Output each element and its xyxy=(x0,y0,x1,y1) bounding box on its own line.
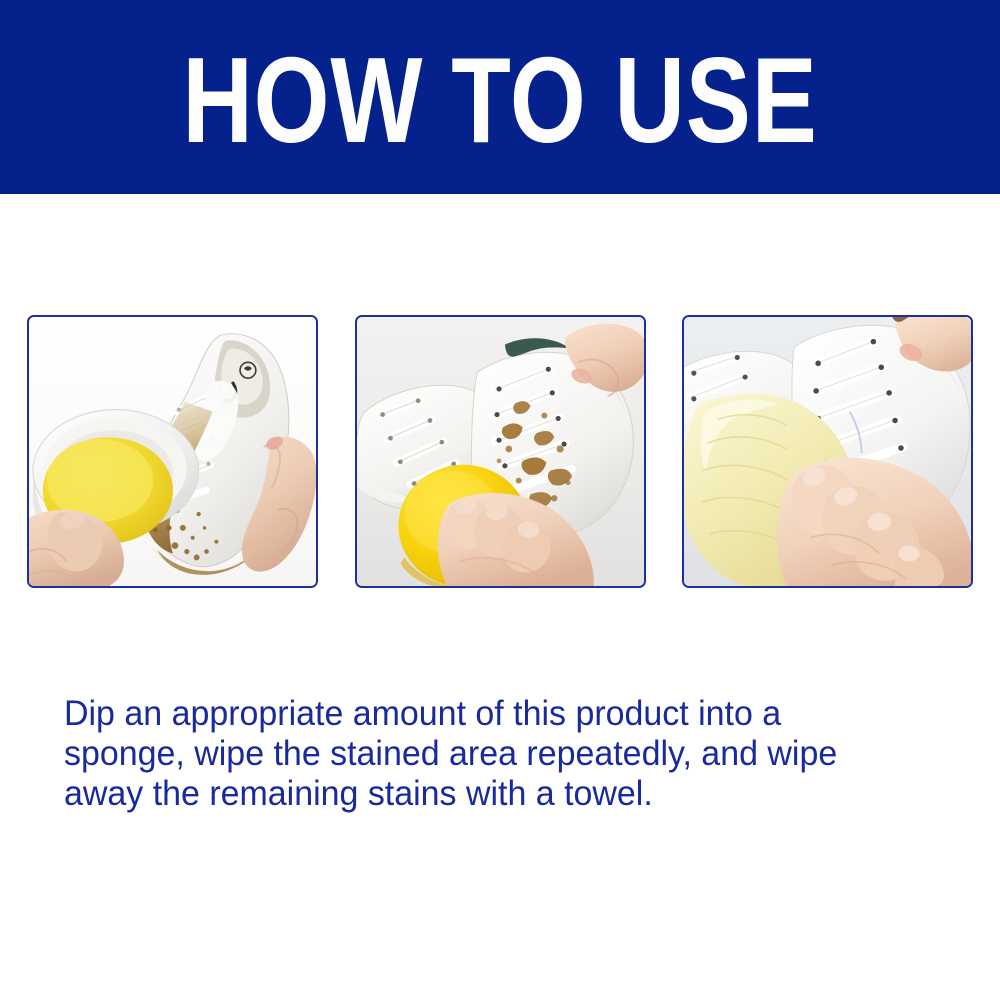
step-1-illustration xyxy=(29,317,316,586)
caption-line-2: sponge, wipe the stained area repeatedly… xyxy=(64,734,937,774)
step-3-photo xyxy=(682,315,973,588)
caption-line-1: Dip an appropriate amount of this produc… xyxy=(64,694,937,734)
header-band: HOW TO USE xyxy=(0,0,1000,194)
page-title: HOW TO USE xyxy=(100,0,900,194)
step-image-row xyxy=(27,315,973,588)
step-2-photo xyxy=(355,315,646,588)
step-2-illustration xyxy=(357,317,644,586)
caption-line-3: away the remaining stains with a towel. xyxy=(64,774,937,814)
step-1-photo xyxy=(27,315,318,588)
step-3-illustration xyxy=(684,317,971,586)
instruction-caption: Dip an appropriate amount of this produc… xyxy=(64,694,964,814)
